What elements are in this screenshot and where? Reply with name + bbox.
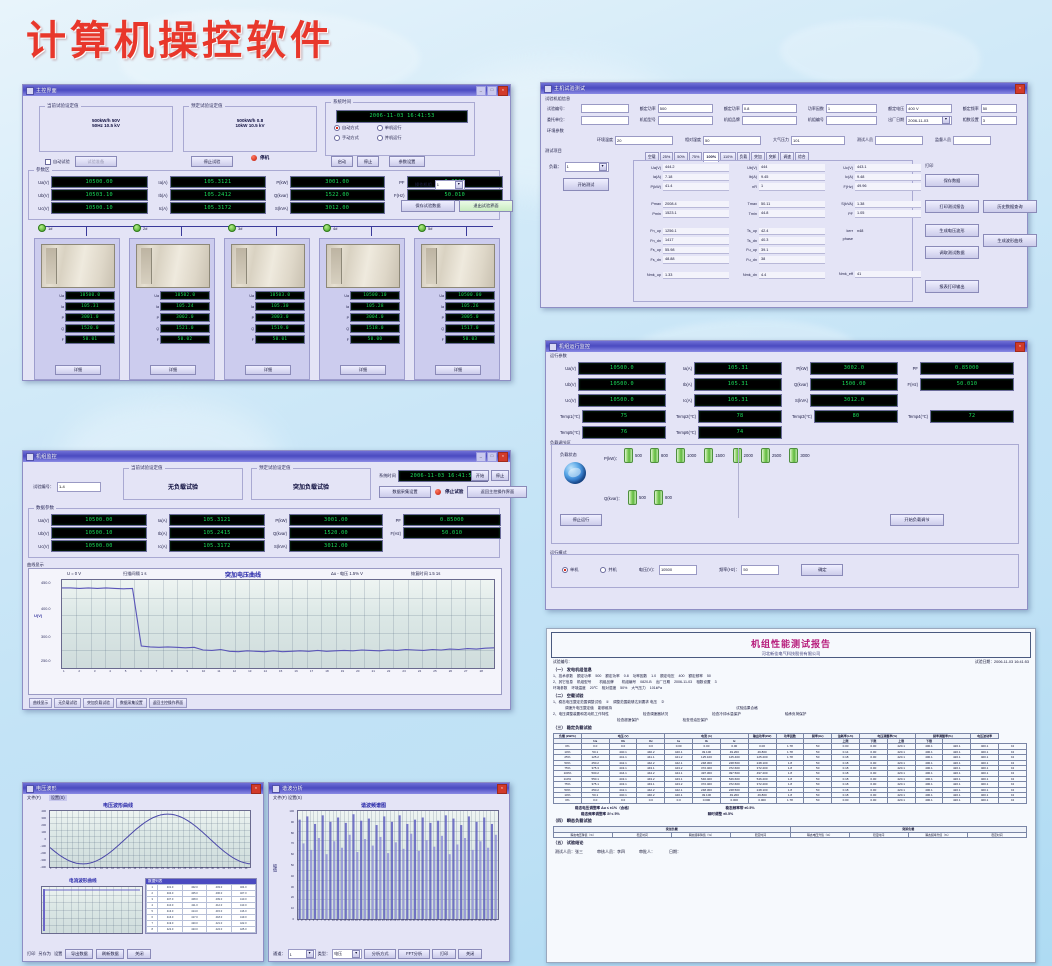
- radio-parallel-mode[interactable]: 并机: [600, 567, 616, 573]
- xtick: 35: [428, 919, 431, 922]
- app-icon: [26, 785, 34, 793]
- readout-value: 105.3172: [169, 540, 265, 552]
- report-section-5: （五） 试验结论: [553, 840, 1029, 846]
- readout-key: F: [338, 338, 349, 342]
- close-button[interactable]: ×: [498, 452, 508, 462]
- table-cell: 稳定时间: [967, 832, 1026, 837]
- table-row[interactable]: 瞬态电压降值（%）稳定时间瞬态频率降值（%）稳定时间瞬态电压升值（%）稳定时间瞬…: [554, 832, 1027, 837]
- xtick: 30: [211, 867, 214, 870]
- readout-key: P: [243, 316, 254, 320]
- stop-button[interactable]: 停机: [260, 155, 269, 161]
- voltage-field-value[interactable]: 10500: [659, 565, 697, 575]
- device-readouts: Ua10502.0 Ia105.24 P3002.0 Q1521.0 F50.0…: [148, 291, 210, 346]
- xtick: 17: [139, 867, 142, 870]
- readout-key: F: [243, 338, 254, 342]
- readout-key: P: [433, 316, 444, 320]
- measure-value: 1256.1: [663, 228, 729, 236]
- readout-key: Q: [243, 327, 254, 331]
- field-value[interactable]: 50: [703, 136, 761, 145]
- table-row[interactable]: 50%250.2442.1442.2442.1248.300248.500248…: [554, 760, 1027, 765]
- radio-auto-mode[interactable]: 自动方式: [334, 125, 359, 131]
- xtick: 42: [455, 919, 458, 922]
- table-cell: 1.78: [776, 798, 804, 803]
- gauge-label: 800: [661, 453, 668, 458]
- measure-value: 444.2: [663, 164, 729, 172]
- measure-key: Fs_dn: [639, 258, 661, 262]
- xtick: 4: [109, 669, 111, 673]
- start-test-button[interactable]: 开始测试: [563, 178, 609, 191]
- xtick: 21: [161, 867, 164, 870]
- xtick: 36: [244, 867, 247, 870]
- readout-key: Ia: [243, 305, 254, 309]
- device-readouts: Ua10500.0 Ia105.31 P3001.0 Q1520.0 F50.0…: [53, 291, 115, 346]
- checkbox-auto-test[interactable]: 自动试验: [45, 159, 70, 165]
- form-row-3: 环境温度 20 相对湿度 50 大气压力 101 测试人员 监督人员: [547, 136, 1017, 145]
- analysis-mode-button[interactable]: 分析方式: [364, 949, 396, 959]
- reactive-gauge[interactable]: [654, 490, 663, 505]
- table-row[interactable]: 25%125.2441.1441.1441.2125.100125.400125…: [554, 755, 1027, 760]
- table-cell: 0.0: [665, 798, 693, 803]
- readout-value: 1519.0: [255, 324, 305, 333]
- device-name: 2#: [143, 226, 147, 231]
- table-cell: 0%: [554, 798, 582, 803]
- chevron-down-icon[interactable]: ▼: [352, 950, 360, 958]
- close-button-bottom[interactable]: 关闭: [458, 949, 482, 959]
- ytick-400: 400.0: [41, 607, 51, 611]
- readout-value: 50.01: [255, 335, 305, 344]
- load-gauge[interactable]: [624, 448, 633, 463]
- xtick: 33: [420, 919, 423, 922]
- measure-value: 9.45: [759, 174, 825, 182]
- freq-field-value[interactable]: 50: [741, 565, 779, 575]
- readout-value: 3012.00: [290, 202, 385, 214]
- window-main-control[interactable]: 主控界面 _ □ × 当前试验设定值 500kW/h 50V 50Hz 10.5…: [22, 84, 511, 381]
- fetch-data-button[interactable]: 调取测试数据: [925, 246, 979, 259]
- table-row[interactable]: 100%500.2444.1444.2444.1497.300497.50049…: [554, 771, 1027, 776]
- tab-wave-1[interactable]: 曲线显示: [29, 698, 52, 708]
- titlebar[interactable]: 谐波分析 ×: [269, 783, 509, 794]
- temp-value: 75: [582, 410, 666, 423]
- table-row[interactable]: 75%375.1443.1443.1443.2372.400372.600372…: [554, 782, 1027, 787]
- report-row-3: 环境参数环境温度20℃ 相对湿度50%大气压力 101kPa: [553, 686, 1029, 691]
- measure-col-3: Uc(V)443.1 Ic(A)9.48 F(Hz)49.96 S(kVA)1.…: [831, 164, 921, 281]
- report-sec2-row-1: 1、稳态电压整定范围调整试验①调整范围能够达到要求 电压②: [553, 700, 1029, 705]
- gen-curve-button[interactable]: 生成波形曲线: [983, 234, 1037, 247]
- table-row[interactable]: 50%250.2442.1442.2442.1248.300248.500248…: [554, 787, 1027, 792]
- gauge-label: 500: [635, 453, 642, 458]
- device-panel[interactable]: Ua10500.10 Ia105.28 P3004.0 Q1518.0 F50.…: [319, 238, 405, 380]
- xtick: 26: [189, 867, 192, 870]
- xtick: 18: [144, 867, 147, 870]
- field-value[interactable]: 101: [791, 136, 845, 145]
- load-gauge[interactable]: [650, 448, 659, 463]
- measure-value: 1.05: [855, 210, 921, 218]
- data-table-panel[interactable]: 数据列表 1401.0402.0403.0404.02404.0405.0406…: [145, 878, 257, 934]
- field-value[interactable]: 1: [826, 104, 878, 113]
- device-detail-button[interactable]: 详细: [55, 365, 101, 375]
- measure-key: PF: [831, 212, 853, 216]
- measure-key: Uc(V): [831, 166, 853, 170]
- acquisition-settings-button[interactable]: 数据采集设置: [379, 486, 431, 498]
- measure-value: 48.88: [663, 256, 729, 264]
- field-value[interactable]: [581, 116, 629, 125]
- page-title: 计算机操控软件: [26, 8, 334, 66]
- xtick: 34: [424, 919, 427, 922]
- bottom-btn-print[interactable]: 打印: [27, 951, 35, 957]
- gen-voltage-wave-button[interactable]: 生成电压波形: [925, 224, 979, 237]
- kw-gauge-row[interactable]: 50080010001500200025003000: [624, 448, 816, 463]
- measure-key: Fu_dn: [735, 258, 757, 262]
- ytick: 40: [291, 874, 294, 878]
- xtick: 17: [359, 919, 362, 922]
- menu-bar[interactable]: 文件(F) 设置(S): [273, 795, 302, 801]
- titlebar[interactable]: 主机试验测试 ×: [541, 83, 1027, 94]
- xtick: 1: [63, 669, 65, 673]
- xtick: 19: [150, 867, 153, 870]
- confirm-button[interactable]: 确定: [801, 564, 843, 576]
- xtick: 16: [355, 919, 358, 922]
- xtick: 27: [397, 919, 400, 922]
- close-button[interactable]: ×: [1015, 84, 1025, 94]
- report-document[interactable]: 机组性能测试报告 河北新佳电气科技股份有限公司 试验编号： 试验日期：2006-…: [546, 628, 1036, 963]
- xtick: 6: [78, 867, 79, 870]
- menu-settings[interactable]: 设置(S): [49, 795, 67, 801]
- measure-value: 2008.4: [663, 201, 729, 209]
- xtick: 36: [432, 919, 435, 922]
- table-row[interactable]: 9425.0426.0427.0428.0: [147, 933, 256, 935]
- ytick-300: 300.0: [41, 635, 51, 639]
- temp-value: 74: [698, 426, 782, 439]
- load-gauge[interactable]: [789, 448, 798, 463]
- ytick: 400: [41, 809, 46, 813]
- stop-button[interactable]: 停止: [491, 470, 509, 481]
- field-value[interactable]: [826, 116, 878, 125]
- generator-image: [326, 244, 400, 288]
- xtick: 11: [336, 919, 338, 922]
- save-test-data-button[interactable]: 保存试验数据: [401, 200, 455, 212]
- window-test-config[interactable]: 主机试验测试 × 试验机组信息 试验编号： 额定功率 500 额定功率 0.8 …: [540, 82, 1028, 308]
- window-title: 机组运行监控: [559, 343, 1015, 350]
- load-gauge[interactable]: [704, 448, 713, 463]
- stop-test-button[interactable]: 停止试验: [445, 489, 463, 495]
- readout-value: 105.31: [694, 394, 782, 407]
- radio-manual-mode[interactable]: 手动方式: [334, 135, 359, 141]
- field-value[interactable]: [953, 136, 991, 145]
- titlebar[interactable]: 主控界面 _ □ ×: [23, 85, 510, 96]
- readout-value: 3012.0: [810, 394, 898, 407]
- table-cell: 0.000: [693, 798, 721, 803]
- readout-value: 1518.0: [350, 324, 400, 333]
- titlebar[interactable]: 机组运行监控 ×: [546, 341, 1027, 352]
- readout-value: 3012.00: [289, 540, 383, 552]
- generator-image: [421, 244, 495, 288]
- chart-left-note: U = 0 V: [67, 571, 81, 576]
- window-harmonic-analysis[interactable]: 谐波分析 × 文件(F) 设置(S) 谐波频谱图 幅值 100908070605…: [268, 782, 510, 962]
- chevron-down-icon[interactable]: ▼: [942, 116, 950, 124]
- xtick: 8: [89, 867, 90, 870]
- measure-value: [855, 236, 921, 243]
- field-label: 测试人员: [847, 137, 873, 143]
- field-value[interactable]: 3: [981, 116, 1017, 125]
- xtick: 10: [100, 867, 103, 870]
- load-gauge[interactable]: [676, 448, 685, 463]
- field-value[interactable]: 0.8: [742, 104, 797, 113]
- xtick: 30: [409, 919, 412, 922]
- xtick: 33: [228, 867, 231, 870]
- measure-key: kerr: [831, 229, 853, 233]
- minimize-button[interactable]: _: [476, 452, 486, 462]
- app-icon: [544, 85, 552, 93]
- readout-key: S(kVA): [269, 544, 287, 549]
- table-cell: 428.0: [231, 933, 255, 935]
- titlebar[interactable]: 机组监控 _ □ ×: [23, 451, 510, 462]
- readout-key: Q(kvar): [269, 531, 287, 536]
- xtick: 15: [128, 867, 131, 870]
- field-label: 额定电压: [879, 106, 904, 112]
- radio-single-mode[interactable]: 单机: [562, 567, 578, 573]
- field-value[interactable]: [581, 104, 629, 113]
- stop-indicator-icon: [435, 489, 441, 495]
- device-name: 3#: [238, 226, 242, 231]
- device-detail-button[interactable]: 详细: [150, 365, 196, 375]
- gauge-label: 500: [639, 495, 646, 500]
- field-value[interactable]: 400 V: [906, 104, 952, 113]
- menu-file[interactable]: 文件(F): [27, 795, 41, 801]
- minimize-button[interactable]: _: [476, 86, 486, 96]
- tab-wave-2[interactable]: 无负载试验: [54, 698, 81, 708]
- status-led-icon: [228, 224, 236, 232]
- ytick: 100: [41, 830, 46, 834]
- bottom-btn-close[interactable]: 关闭: [127, 949, 151, 959]
- readout-key: Q: [148, 327, 159, 331]
- xtick: 40: [447, 919, 450, 922]
- readout-value: 50.010: [920, 378, 1014, 391]
- ytick: 90: [291, 820, 294, 824]
- bottom-btn-settings[interactable]: 设置: [54, 951, 62, 957]
- device-header-5: 5#: [418, 224, 432, 232]
- field-value[interactable]: 50: [981, 104, 1017, 113]
- table-row[interactable]: 75%375.3443.1443.1443.2372.400372.600372…: [554, 765, 1027, 770]
- reactive-gauge[interactable]: [628, 490, 637, 505]
- table-row[interactable]: 10%50.1440.1440.2440.149.10049.20049.800…: [554, 749, 1027, 754]
- tab-wave-5[interactable]: 返回主控操作界面: [149, 698, 187, 708]
- table-row[interactable]: 0%0.00.00.00.00.0000.0000.0001.78500.000…: [554, 798, 1027, 803]
- measure-value: 1523.1: [663, 210, 729, 218]
- field-value[interactable]: 20: [615, 136, 673, 145]
- temp-key: Temp4(℃): [902, 414, 928, 419]
- gauge-label: 2000: [744, 453, 753, 458]
- table-cell: 0.000: [748, 798, 776, 803]
- readout-value: 3005.0: [445, 313, 495, 322]
- readout-value: 10500.0: [65, 291, 115, 300]
- start-button[interactable]: 启动: [331, 156, 353, 167]
- ytick: -100: [40, 844, 46, 848]
- window-unit-monitor[interactable]: 机组监控 _ □ × 试验编号： 1-4 当前试验设定值 无负载试验 预定试验设…: [22, 450, 511, 710]
- measure-key: Ts_up: [735, 229, 757, 233]
- chevron-down-icon[interactable]: ▼: [306, 950, 314, 958]
- readout-value: 105.2415: [169, 527, 265, 539]
- xtick: 35: [239, 867, 242, 870]
- readout-value: 105.24: [160, 302, 210, 311]
- readout-key: Ia: [53, 305, 64, 309]
- xtick: 16: [294, 669, 297, 673]
- stop-test-button[interactable]: 停止试验: [191, 156, 233, 167]
- report-output-button[interactable]: 报表打印输出: [925, 280, 979, 293]
- group-label: 数据参数: [34, 505, 56, 511]
- xtick: 5: [313, 919, 314, 922]
- ytick: 50: [291, 863, 294, 867]
- device-panel[interactable]: Ua10500.0 Ia105.31 P3001.0 Q1520.0 F50.0…: [34, 238, 120, 380]
- xtick: 10: [332, 919, 335, 922]
- radio-parallel-unit[interactable]: 并机运行: [377, 135, 402, 141]
- xtick: 11: [106, 867, 109, 870]
- table-cell: 0.0: [581, 798, 609, 803]
- table-row[interactable]: 0%0.00.00.00.000.000.000.001.78500.000.0…: [554, 744, 1027, 749]
- print-report-button[interactable]: 打印测试报告: [925, 200, 979, 213]
- temp-value: 78: [698, 410, 782, 423]
- xtick: 50: [486, 919, 489, 922]
- date-select-value[interactable]: 2006-11-03: [908, 118, 928, 123]
- field-value[interactable]: [658, 116, 713, 125]
- device-panel[interactable]: Ua10503.0 Ia105.30 P3003.0 Q1519.0 F50.0…: [224, 238, 310, 380]
- xtick: 18: [363, 919, 366, 922]
- readout-key: Ia: [433, 305, 444, 309]
- device-detail-button[interactable]: 详细: [435, 365, 481, 375]
- device-readouts: Ua10503.0 Ia105.30 P3003.0 Q1519.0 F50.0…: [243, 291, 305, 346]
- titlebar[interactable]: 电压波形 ×: [23, 783, 263, 794]
- close-button[interactable]: ×: [251, 784, 261, 794]
- table-cell: 0.00: [832, 798, 860, 803]
- device-detail-button[interactable]: 详细: [340, 365, 386, 375]
- form-row-1: 试验编号： 额定功率 500 额定功率 0.8 功率因数 1 额定电压 400 …: [547, 104, 1017, 113]
- print-value[interactable]: [935, 162, 961, 169]
- tab-wave-3[interactable]: 突加负载试验: [83, 698, 114, 708]
- test-no-label: 试验编号：: [33, 484, 54, 490]
- device-name: 1#: [48, 226, 52, 231]
- readout-value: 1520.00: [289, 527, 383, 539]
- type-value[interactable]: 电压: [334, 951, 342, 957]
- halt-button[interactable]: 停止: [357, 156, 379, 167]
- channel-value[interactable]: 1: [290, 952, 292, 957]
- close-button[interactable]: ×: [1015, 342, 1025, 352]
- readout-value: 3001.0: [65, 313, 115, 322]
- chart-mid-note: 扫描间隔 1 s: [123, 571, 147, 577]
- xtick: 20: [356, 669, 359, 673]
- radio-single-unit[interactable]: 单机运行: [377, 125, 402, 131]
- maximize-button[interactable]: □: [487, 452, 497, 462]
- field-value[interactable]: [742, 116, 797, 125]
- load-select-value[interactable]: 1: [567, 164, 569, 169]
- xtick: 2: [301, 919, 302, 922]
- readout-value: 105.28: [350, 302, 400, 311]
- bottom-btn-refresh[interactable]: 刷新数据: [96, 949, 124, 959]
- table-row[interactable]: 10%50.1440.1440.2440.149.10049.20049.800…: [554, 792, 1027, 797]
- temp-key: Temp5(℃): [554, 430, 580, 435]
- fft-button[interactable]: FFT分析: [398, 949, 430, 959]
- report-ref-label: 试验编号：: [553, 660, 572, 665]
- field-value[interactable]: 500: [658, 104, 713, 113]
- bus-line-2: [181, 226, 182, 236]
- window-running-monitor[interactable]: 机组运行监控 × 运行参数 Ua(V)10500.0 Ia(A)105.31 P…: [545, 340, 1028, 610]
- readout-key: Ub(V): [33, 193, 49, 198]
- readout-key: Ua: [338, 294, 349, 298]
- maximize-button[interactable]: □: [487, 86, 497, 96]
- prepare-test-button[interactable]: 试验准备: [75, 156, 117, 167]
- xtick: 17: [310, 669, 313, 673]
- readout-value: 1520.0: [65, 324, 115, 333]
- chart-tabs[interactable]: 曲线显示 无负载试验 突加负载试验 数据采集设置 返回主控操作界面: [29, 698, 187, 708]
- status-led-icon: [323, 224, 331, 232]
- report-date-label: 试验日期：: [975, 660, 994, 664]
- report-sec2-row-2: 调速升电压整定值能够维持试验结果合格: [553, 706, 1029, 711]
- start-button[interactable]: 开始: [471, 470, 489, 481]
- exit-test-button[interactable]: 退出试验界面: [459, 200, 513, 212]
- temp-key: Temp6(℃): [670, 430, 696, 435]
- xtick: 6: [317, 919, 318, 922]
- device-detail-button[interactable]: 详细: [245, 365, 291, 375]
- save-data-button[interactable]: 保存数据: [925, 174, 979, 187]
- history-query-button[interactable]: 历史数据查询: [983, 200, 1037, 213]
- status-led-icon: [418, 224, 426, 232]
- close-button[interactable]: ×: [497, 784, 507, 794]
- stop-run-button[interactable]: 停止运行: [560, 514, 602, 526]
- tab-wave-4[interactable]: 数据采集设置: [116, 698, 147, 708]
- start-load-adjust-button[interactable]: 开始负载调节: [890, 514, 944, 526]
- globe-icon: [564, 462, 586, 484]
- load-gauge[interactable]: [761, 448, 770, 463]
- readout-key: Ic(A): [151, 544, 167, 549]
- unit-select-value[interactable]: 1: [437, 182, 439, 187]
- xtick: 15: [351, 919, 354, 922]
- chevron-down-icon[interactable]: ▼: [599, 163, 607, 171]
- readout-key: Uc(V): [33, 206, 49, 211]
- bottom-btn-saveas[interactable]: 另存为: [38, 951, 51, 957]
- window-voltage-waveform[interactable]: 电压波形 × 文件(F) 设置(S) 电压波形曲线 4003002001000-…: [22, 782, 264, 962]
- status-led-icon: [38, 224, 46, 232]
- device-panel[interactable]: Ua10500.00 Ia105.26 P3005.0 Q1517.0 F50.…: [414, 238, 500, 380]
- field-value[interactable]: [875, 136, 923, 145]
- table-cell: 400.1: [971, 798, 999, 803]
- params-button[interactable]: 参数设置: [389, 156, 425, 167]
- xtick: 19: [367, 919, 370, 922]
- xtick: 26: [394, 919, 397, 922]
- readout-value: 10500.00: [51, 176, 148, 188]
- readout-key: S(kVA): [270, 206, 288, 211]
- group-label: 预定试验设定值: [189, 103, 225, 109]
- ytick: 200: [41, 823, 46, 827]
- measure-key: S(kVA): [831, 202, 853, 206]
- table-cell: 0.00: [859, 798, 887, 803]
- bottom-btn-export[interactable]: 导出数据: [65, 949, 93, 959]
- measure-key: P(kW): [639, 185, 661, 189]
- device-panel[interactable]: Ua10502.0 Ia105.24 P3002.0 Q1521.0 F50.0…: [129, 238, 215, 380]
- return-main-button[interactable]: 返回主控操作界面: [467, 486, 527, 498]
- test-no-value[interactable]: 1-4: [57, 482, 101, 492]
- field-label: 机组型号: [631, 117, 656, 123]
- close-button[interactable]: ×: [498, 86, 508, 96]
- xtick: 11: [217, 669, 220, 673]
- xtick: 31: [217, 867, 220, 870]
- group-label: 参数区: [34, 167, 52, 173]
- ytick: 20: [291, 895, 294, 899]
- chevron-down-icon[interactable]: ▼: [455, 181, 463, 189]
- xtick: 28: [401, 919, 404, 922]
- table-cell: 0.000: [720, 798, 748, 803]
- kvar-gauge-row[interactable]: 500800: [628, 490, 678, 505]
- readout-value: 10503.0: [255, 291, 305, 300]
- table-row[interactable]: 110%550.1443.1443.2443.1546.400546.60054…: [554, 776, 1027, 781]
- print-button[interactable]: 打印: [432, 949, 456, 959]
